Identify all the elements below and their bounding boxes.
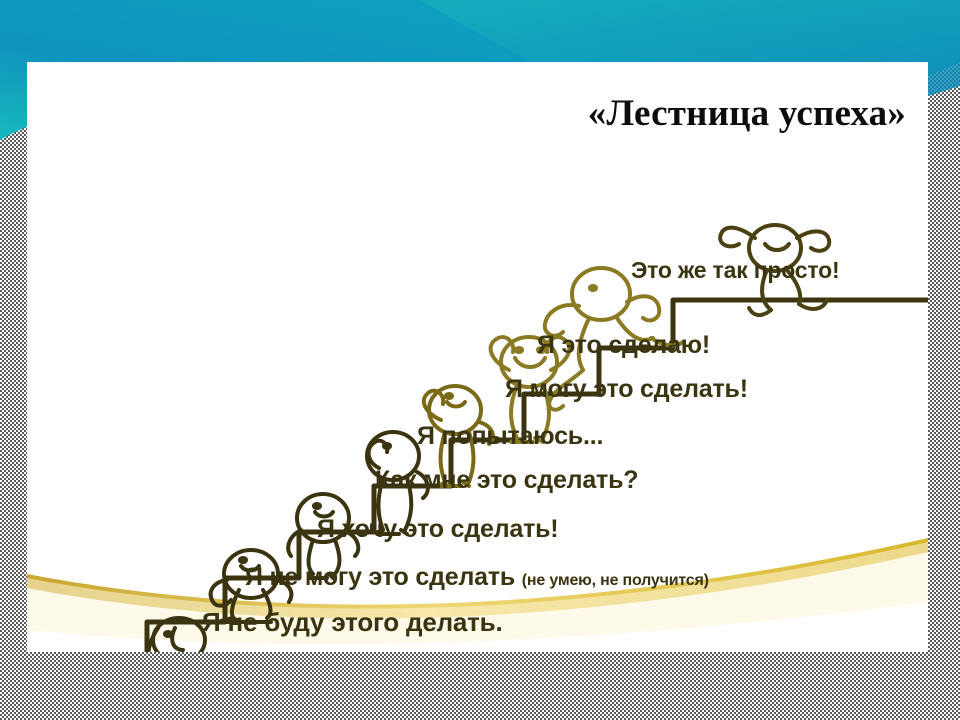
step-text-2: Я хочу это сделать! (317, 515, 558, 543)
step-label-6: Я это сделаю! (537, 331, 710, 360)
step-text-3: Как мне это сделать? (375, 466, 638, 494)
step-label-5: Я могу это сделать! (505, 375, 748, 404)
step-label-7: Это же так просто! (631, 257, 839, 284)
step-note-1: (не умею, не получится) (522, 572, 709, 589)
step-text-5: Я могу это сделать! (505, 375, 748, 403)
content-card: Я не буду этого делать. Я не могу это сд… (27, 62, 928, 652)
step-label-4: Я попытаюсь... (417, 422, 603, 451)
step-label-1: Я не могу это сделать (не умею, не получ… (245, 563, 709, 592)
step-label-2: Я хочу это сделать! (317, 515, 558, 544)
step-text-1: Я не могу это сделать (245, 563, 515, 591)
slide-canvas: Я не буду этого делать. Я не могу это сд… (0, 0, 960, 720)
step-text-4: Я попытаюсь... (417, 422, 603, 450)
step-label-0: Я не буду этого делать. (202, 607, 503, 638)
step-text-0: Я не буду этого делать. (202, 607, 503, 637)
sitting-figure (123, 618, 205, 652)
step-label-3: Как мне это сделать? (375, 466, 638, 495)
page-title: «Лестница успеха» (588, 92, 906, 135)
step-text-7: Это же так просто! (631, 257, 839, 283)
step-text-6: Я это сделаю! (537, 331, 710, 359)
